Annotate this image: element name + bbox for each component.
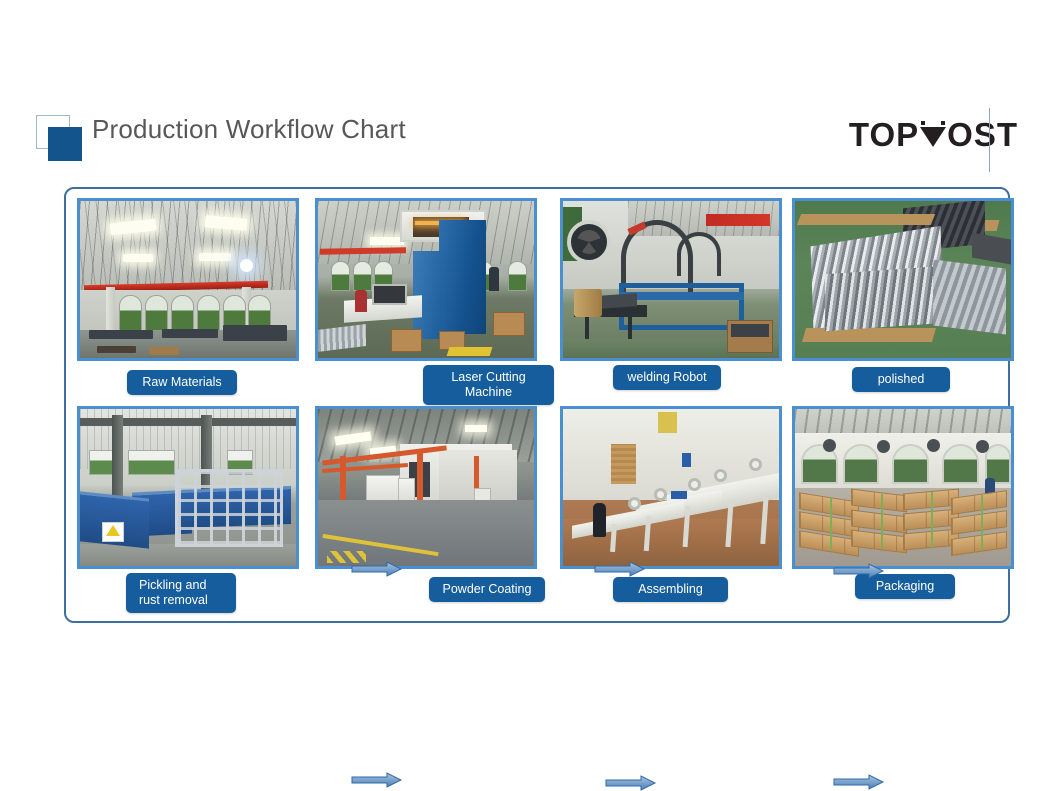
- m-dot-left: [921, 121, 925, 125]
- step-label-raw-materials[interactable]: Raw Materials: [127, 370, 237, 395]
- page-title: Production Workflow Chart: [92, 114, 406, 145]
- right-arrow-icon: [605, 775, 657, 791]
- page-header: Production Workflow Chart TOP OST: [0, 98, 1060, 168]
- photo-packaging-cartons: [792, 406, 1014, 569]
- photo-welding-robot: [560, 198, 782, 361]
- workflow-step-polished[interactable]: polished: [792, 193, 1014, 398]
- right-arrow-icon: [833, 563, 885, 579]
- workflow-step-raw-materials[interactable]: Raw Materials: [77, 193, 299, 398]
- photo-laser-cutting-machine: [315, 198, 537, 361]
- workflow-step-welding-robot[interactable]: welding Robot: [560, 193, 782, 398]
- workflow-step-packaging[interactable]: Packaging: [792, 401, 1014, 606]
- photo-polished-profiles: [792, 198, 1014, 361]
- workflow-step-powder-coating[interactable]: Powder Coating: [315, 401, 537, 606]
- right-arrow-icon: [833, 774, 885, 790]
- workflow-frame: Raw Materials: [64, 187, 1010, 623]
- step-label-powder-coating[interactable]: Powder Coating: [429, 577, 545, 602]
- m-triangle: [920, 127, 946, 147]
- photo-raw-materials: [77, 198, 299, 361]
- brand-logo: TOP OST: [849, 106, 1018, 162]
- step-label-welding-robot[interactable]: welding Robot: [613, 365, 721, 390]
- m-dot-right: [941, 121, 945, 125]
- step-label-assembling[interactable]: Assembling: [613, 577, 728, 602]
- brand-divider: [989, 108, 990, 172]
- right-arrow-icon: [351, 772, 403, 788]
- photo-pickling-tanks: [77, 406, 299, 569]
- step-label-pickling-and-rust-removal[interactable]: Pickling and rust removal: [126, 573, 236, 613]
- brand-m-glyph-icon: [918, 118, 948, 151]
- square-logo-mark: [36, 115, 84, 163]
- workflow-row-1: Raw Materials: [66, 193, 1012, 398]
- photo-assembly-line: [560, 406, 782, 569]
- photo-powder-coating-line: [315, 406, 537, 569]
- brand-wordmark: TOP OST: [849, 118, 1018, 151]
- workflow-step-pickling[interactable]: Pickling and rust removal: [77, 401, 299, 606]
- workflow-step-laser-cutting[interactable]: Laser Cutting Machine: [315, 193, 537, 398]
- step-label-polished[interactable]: polished: [852, 367, 950, 392]
- step-label-laser-cutting-machine[interactable]: Laser Cutting Machine: [423, 365, 554, 405]
- right-arrow-icon: [594, 561, 646, 577]
- right-arrow-icon: [351, 561, 403, 577]
- logo-solid-square: [48, 127, 82, 161]
- brand-prefix: TOP: [849, 118, 919, 151]
- brand-suffix: OST: [947, 118, 1018, 151]
